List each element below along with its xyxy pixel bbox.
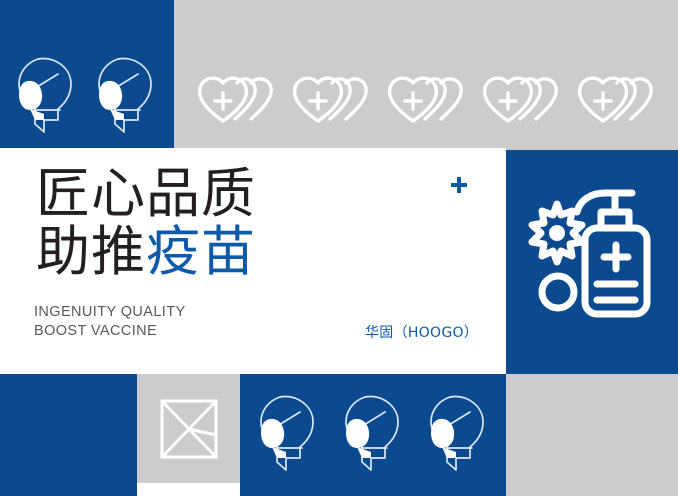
plus-icon xyxy=(449,175,469,195)
headline-line-2-plain: 助推 xyxy=(36,220,146,283)
masked-head-icon xyxy=(14,54,80,140)
page-title: 匠心品质 助推疫苗 xyxy=(36,165,256,281)
broken-image-placeholder-icon xyxy=(160,399,218,459)
headline-line-2: 助推疫苗 xyxy=(36,223,256,281)
sanitizer-icon-group xyxy=(527,190,659,338)
bottom-mask-icon-group xyxy=(256,390,492,480)
headline-line-1: 匠心品质 xyxy=(36,165,256,223)
small-circle-icon xyxy=(542,276,574,308)
bottom-left-blue-panel xyxy=(0,374,137,496)
double-heart-plus-icon xyxy=(481,74,561,132)
subtitle: INGENUITY QUALITY BOOST VACCINE xyxy=(34,303,186,341)
brand-name: 华固（HOOGO） xyxy=(365,322,478,342)
masked-head-icon xyxy=(341,392,407,478)
top-left-mask-icon-group xyxy=(14,52,160,142)
masked-head-icon xyxy=(256,392,322,478)
masked-head-icon xyxy=(94,54,160,140)
poster-canvas: 匠心品质 助推疫苗 INGENUITY QUALITY BOOST VACCIN… xyxy=(0,0,678,496)
pump-sanitizer-bottle-icon xyxy=(577,193,647,314)
subtitle-line-2: BOOST VACCINE xyxy=(34,322,186,341)
subtitle-line-1: INGENUITY QUALITY xyxy=(34,303,186,322)
double-heart-plus-icon xyxy=(196,74,276,132)
double-heart-plus-icon xyxy=(291,74,371,132)
double-heart-plus-icon xyxy=(576,74,656,132)
top-heart-icon-group xyxy=(196,72,656,134)
bottom-right-gray-panel xyxy=(506,374,678,496)
headline-line-2-accent: 疫苗 xyxy=(146,220,256,283)
double-heart-plus-icon xyxy=(386,74,466,132)
masked-head-icon xyxy=(426,392,492,478)
